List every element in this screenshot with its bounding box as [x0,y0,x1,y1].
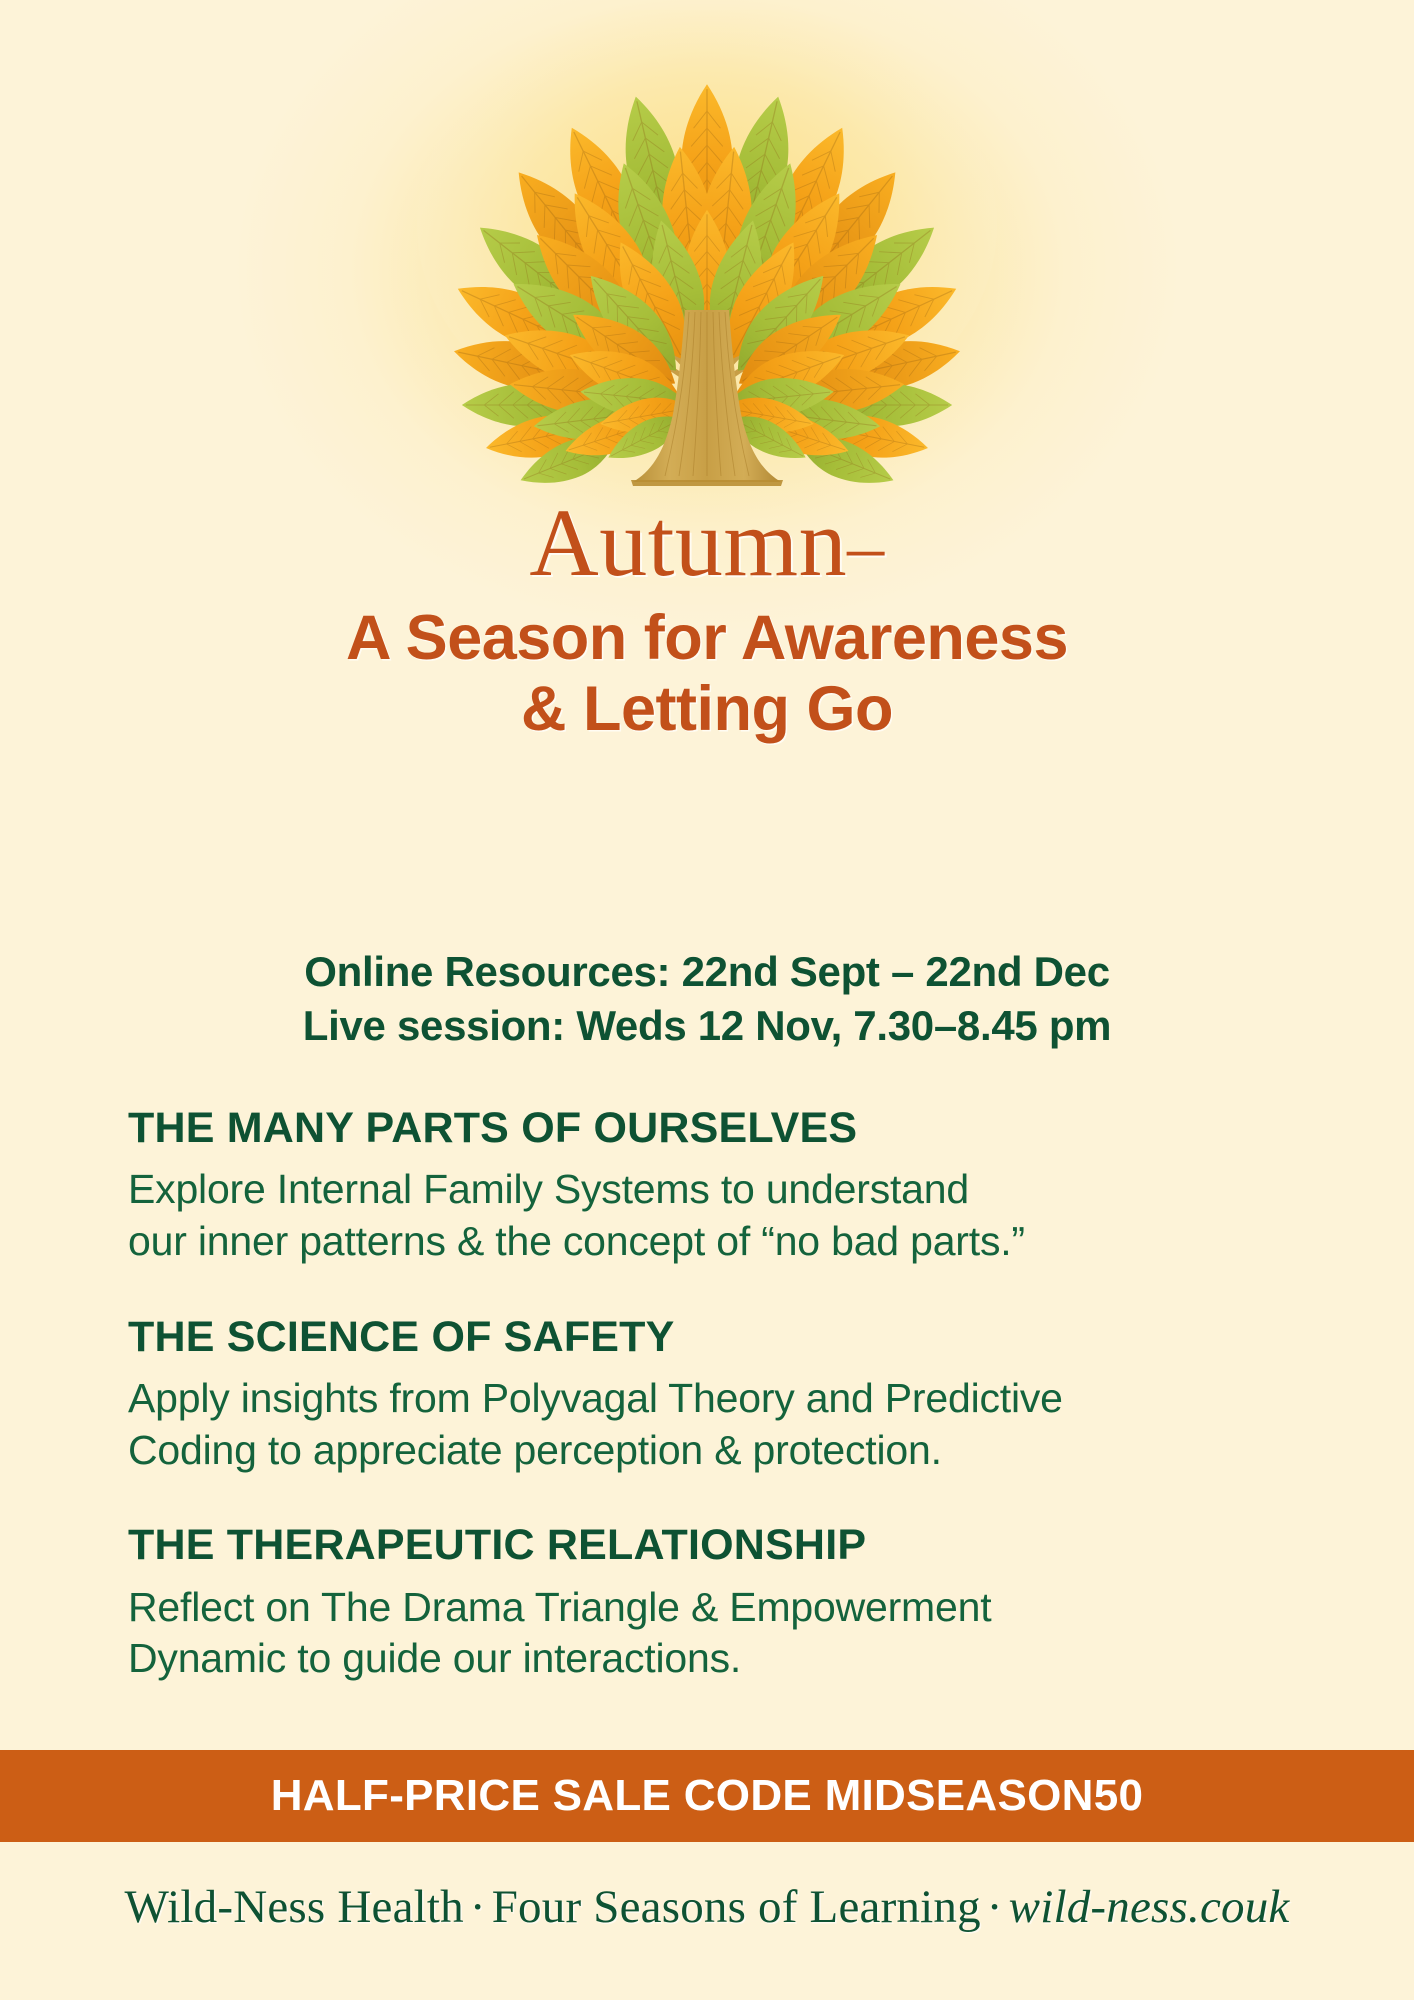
page-subtitle-line-1: A Season for Awareness [0,603,1414,674]
section-body-line-1: Explore Internal Family Systems to under… [128,1164,1288,1216]
live-session-date: Live session: Weds 12 Nov, 7.30–8.45 pm [0,999,1414,1053]
tree-svg [397,10,1017,510]
headline-block: Autumn– A Season for Awareness & Letting… [0,495,1414,744]
topic-sections: THE MANY PARTS OF OURSELVES Explore Inte… [128,1105,1288,1685]
section-body-line-2: our inner patterns & the concept of “no … [128,1216,1288,1268]
page-title: Autumn– [0,495,1414,591]
page-subtitle: A Season for Awareness & Letting Go [0,603,1414,744]
dates-block: Online Resources: 22nd Sept – 22nd Dec L… [0,945,1414,1053]
section-body: Explore Internal Family Systems to under… [128,1164,1288,1267]
section-body: Apply insights from Polyvagal Theory and… [128,1373,1288,1476]
topic-section: THE MANY PARTS OF OURSELVES Explore Inte… [128,1105,1288,1268]
section-heading: THE SCIENCE OF SAFETY [128,1314,1288,1361]
footer-separator-1: · [464,1881,492,1933]
poster-canvas: Autumn– A Season for Awareness & Letting… [0,0,1414,2000]
page-title-word: Autumn [529,489,847,596]
footer-website-url[interactable]: wild-ness.couk [1009,1881,1290,1933]
section-body-line-1: Apply insights from Polyvagal Theory and… [128,1373,1288,1425]
topic-section: THE SCIENCE OF SAFETY Apply insights fro… [128,1314,1288,1477]
page-title-dash: – [847,506,885,588]
footer-programme: Four Seasons of Learning [492,1881,981,1933]
sale-banner: HALF-PRICE SALE CODE MIDSEASON50 [0,1750,1414,1842]
section-heading: THE THERAPEUTIC RELATIONSHIP [128,1522,1288,1569]
autumn-tree-illustration [0,10,1414,510]
section-body-line-2: Dynamic to guide our interactions. [128,1633,1288,1685]
online-resources-dates: Online Resources: 22nd Sept – 22nd Dec [0,945,1414,999]
footer-brand: Wild-Ness Health [124,1881,463,1933]
topic-section: THE THERAPEUTIC RELATIONSHIP Reflect on … [128,1522,1288,1685]
section-body: Reflect on The Drama Triangle & Empowerm… [128,1582,1288,1685]
section-body-line-1: Reflect on The Drama Triangle & Empowerm… [128,1582,1288,1634]
section-body-line-2: Coding to appreciate perception & protec… [128,1425,1288,1477]
footer-separator-2: · [981,1881,1009,1933]
page-subtitle-line-2: & Letting Go [0,674,1414,745]
footer: Wild-Ness Health·Four Seasons of Learnin… [0,1880,1414,1934]
section-heading: THE MANY PARTS OF OURSELVES [128,1105,1288,1152]
sale-code-text: HALF-PRICE SALE CODE MIDSEASON50 [271,1771,1144,1821]
